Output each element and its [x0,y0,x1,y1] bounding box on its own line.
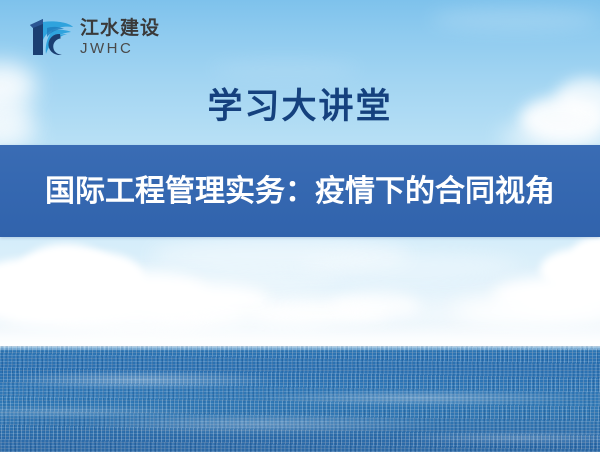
cloud-puff [0,276,140,324]
sky-haze [300,252,520,278]
cloud-puff [140,284,270,316]
jwhc-wave-logo-icon [26,16,74,58]
brand-logo: 江水建设 JWHC [26,16,160,58]
page-title: 学习大讲堂 [0,78,600,129]
cloud-puff [248,300,388,326]
sky-haze [40,270,340,300]
cloud-puff [0,258,100,316]
sea-wave-texture [0,346,600,452]
brand-name-cn: 江水建设 [80,19,160,38]
sky-haze [150,238,410,272]
cloud-puff [492,276,600,314]
cloud-puff [160,306,330,328]
sea-background [0,346,600,452]
sky-haze [210,60,360,78]
cloud-puff [540,248,600,292]
cloud-puff [18,244,114,302]
cloud-puff [452,296,600,326]
horizon-haze [0,322,600,346]
poster-banner: 江水建设 JWHC 学习大讲堂 国际工程管理实务：疫情下的合同视角 [0,0,600,452]
brand-name-en: JWHC [80,41,160,56]
cloud-puff [572,236,600,274]
lecture-title: 国际工程管理实务：疫情下的合同视角 [45,175,555,208]
lecture-title-band: 国际工程管理实务：疫情下的合同视角 [0,145,600,237]
sky-haze [380,300,600,326]
cloud-puff [96,272,206,312]
cloud-puff [60,312,210,332]
sky-haze [430,8,600,30]
cloud-puff [52,252,144,304]
cloud-puff [0,296,250,330]
brand-logo-text: 江水建设 JWHC [80,19,160,56]
cloud-puff [330,292,420,320]
